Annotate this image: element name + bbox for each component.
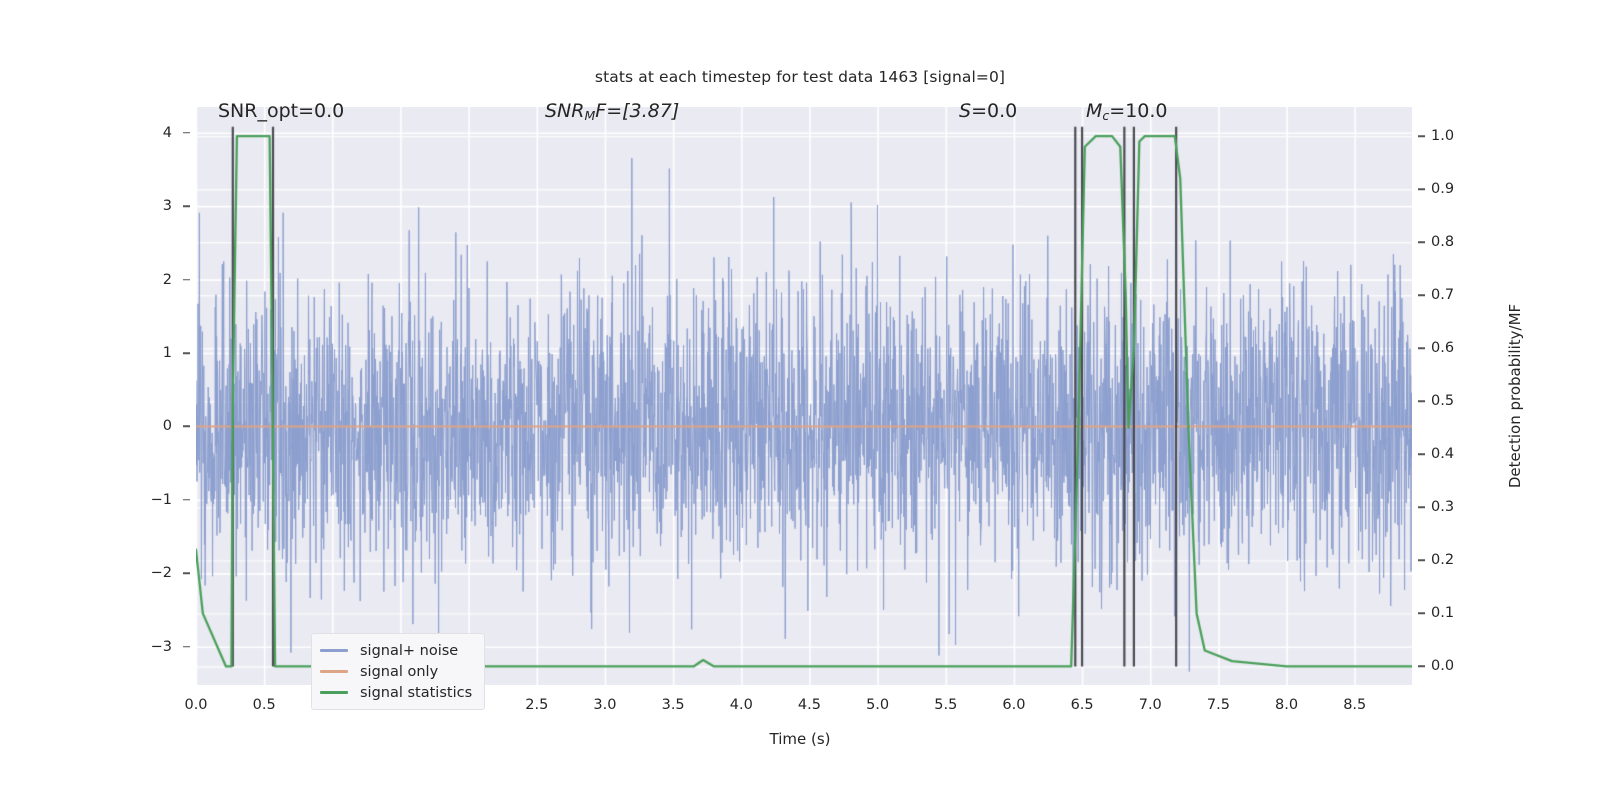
y-axis-right-tick-mark bbox=[1418, 560, 1425, 562]
y-axis-right-tick-mark bbox=[1418, 507, 1425, 509]
x-axis-tick-label: 7.0 bbox=[1120, 697, 1180, 713]
y-axis-left-tick-label: 2 bbox=[112, 272, 172, 288]
y-axis-right-tick-label: 0.0 bbox=[1431, 658, 1491, 674]
x-axis-tick-label: 4.0 bbox=[711, 697, 771, 713]
y-axis-right-tick-mark bbox=[1418, 241, 1425, 243]
x-axis-tick-label: 5.5 bbox=[916, 697, 976, 713]
y-axis-right-tick-label: 0.5 bbox=[1431, 393, 1491, 409]
y-axis-left-tick-mark bbox=[183, 646, 190, 648]
y-axis-left-tick-mark bbox=[183, 573, 190, 575]
x-axis-tick-label: 7.5 bbox=[1188, 697, 1248, 713]
annotation-chirp-mass: Mc=10.0 bbox=[1086, 100, 1168, 123]
legend-swatch-icon bbox=[320, 649, 348, 651]
y-axis-right-tick-label: 1.0 bbox=[1431, 128, 1491, 144]
y-axis-right-tick-mark bbox=[1418, 188, 1425, 190]
y-axis-right-tick-mark bbox=[1418, 666, 1425, 668]
x-axis-tick-label: 8.5 bbox=[1325, 697, 1385, 713]
y-axis-right-label: Detection probability/MF bbox=[1506, 216, 1524, 576]
annotation-snr-opt: SNR_opt=0.0 bbox=[218, 100, 344, 122]
y-axis-left-tick-label: 0 bbox=[112, 418, 172, 434]
y-axis-left-tick-label: 4 bbox=[112, 125, 172, 141]
y-axis-right-tick-mark bbox=[1418, 135, 1425, 137]
y-axis-right-tick-mark bbox=[1418, 348, 1425, 350]
y-axis-left-tick-label: 3 bbox=[112, 198, 172, 214]
legend-item[interactable]: signal only bbox=[320, 661, 472, 682]
y-axis-left-tick-mark bbox=[183, 205, 190, 207]
x-axis-tick-label: 3.5 bbox=[643, 697, 703, 713]
plot-area[interactable] bbox=[196, 107, 1412, 685]
x-axis-tick-label: 6.5 bbox=[1052, 697, 1112, 713]
x-axis-tick-label: 3.0 bbox=[575, 697, 635, 713]
x-axis-tick-label: 2.5 bbox=[507, 697, 567, 713]
x-axis-tick-label: 6.0 bbox=[984, 697, 1044, 713]
legend-item[interactable]: signal statistics bbox=[320, 682, 472, 703]
y-axis-left-tick-label: −3 bbox=[112, 639, 172, 655]
y-axis-left-tick-label: −2 bbox=[112, 565, 172, 581]
legend-label: signal statistics bbox=[360, 685, 472, 701]
legend-label: signal only bbox=[360, 664, 438, 680]
y-axis-right-tick-label: 0.1 bbox=[1431, 605, 1491, 621]
x-axis-tick-label: 4.5 bbox=[779, 697, 839, 713]
y-axis-right-tick-label: 0.7 bbox=[1431, 287, 1491, 303]
y-axis-left-tick-label: −1 bbox=[112, 492, 172, 508]
x-axis-tick-label: 5.0 bbox=[848, 697, 908, 713]
y-axis-right-tick-mark bbox=[1418, 454, 1425, 456]
annotation-snr-mf: SNRMF=[3.87] bbox=[545, 100, 679, 123]
y-axis-right-tick-label: 0.4 bbox=[1431, 446, 1491, 462]
y-axis-right-tick-label: 0.3 bbox=[1431, 499, 1491, 515]
figure-canvas: stats at each timestep for test data 146… bbox=[0, 0, 1600, 800]
y-axis-left-tick-mark bbox=[183, 279, 190, 281]
y-axis-right-tick-mark bbox=[1418, 401, 1425, 403]
y-axis-right-tick-label: 0.2 bbox=[1431, 552, 1491, 568]
y-axis-left-tick-label: 1 bbox=[112, 345, 172, 361]
y-axis-left-tick-mark bbox=[183, 132, 190, 134]
annotation-s-stat: S=0.0 bbox=[959, 100, 1017, 122]
legend[interactable]: signal+ noisesignal onlysignal statistic… bbox=[311, 633, 485, 710]
legend-swatch-icon bbox=[320, 691, 348, 693]
page-title: stats at each timestep for test data 146… bbox=[0, 68, 1600, 86]
x-axis-tick-label: 0.5 bbox=[234, 697, 294, 713]
y-axis-left-tick-mark bbox=[183, 352, 190, 354]
y-axis-right-tick-label: 0.9 bbox=[1431, 181, 1491, 197]
y-axis-left-tick-mark bbox=[183, 426, 190, 428]
x-axis-tick-label: 8.0 bbox=[1257, 697, 1317, 713]
legend-item[interactable]: signal+ noise bbox=[320, 640, 472, 661]
x-axis-label: Time (s) bbox=[0, 730, 1600, 748]
y-axis-right-tick-label: 0.6 bbox=[1431, 340, 1491, 356]
y-axis-right-tick-mark bbox=[1418, 294, 1425, 296]
y-axis-right-tick-label: 0.8 bbox=[1431, 234, 1491, 250]
legend-label: signal+ noise bbox=[360, 643, 458, 659]
y-axis-right-tick-mark bbox=[1418, 613, 1425, 615]
x-axis-tick-label: 0.0 bbox=[166, 697, 226, 713]
legend-swatch-icon bbox=[320, 670, 348, 672]
plot-canvas bbox=[196, 107, 1412, 685]
y-axis-left-tick-mark bbox=[183, 499, 190, 501]
